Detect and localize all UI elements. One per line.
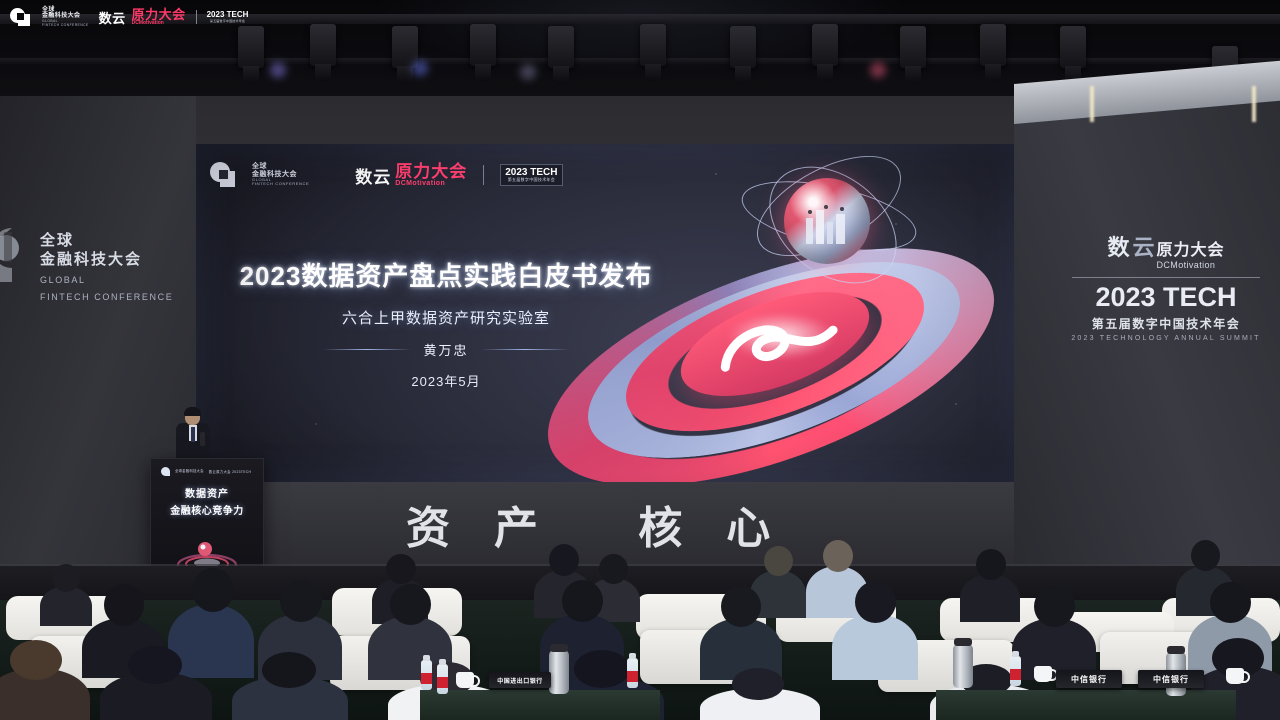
audience-member-front [100,672,212,720]
soffit-light-strip [1252,86,1256,122]
audience-head [262,652,316,688]
right-wall-divider [1072,277,1260,278]
audience-head [823,540,853,572]
audience-member-front [232,676,348,720]
audience-head [549,544,579,576]
wm-gfc-en2: FINTECH CONFERENCE [42,24,89,28]
fintech-logo-icon [0,226,34,284]
screen-vignette [196,144,1014,482]
main-led-screen: 全球 金融科技大会 GLOBAL FINTECH CONFERENCE 数云 原… [196,144,1014,482]
watermark-divider [196,10,197,24]
audience-head [732,668,784,700]
microphone-icon [200,432,205,446]
guest-table [936,690,1236,720]
stage-light [238,26,264,68]
lower-led-band: 资产 核心 [196,482,1014,568]
right-wall-branding: 数 云 原力大会 DCMotivation 2023 TECH 第五届数字中国技… [1066,230,1266,342]
speaker-person [176,408,210,464]
stage-light [1060,26,1086,68]
fintech-logo-icon [161,467,170,476]
conference-photo: 全球 金融科技大会 GLOBAL FINTECH CONFERENCE 数 云 … [0,0,1280,720]
left-wall-cn-line2: 金融科技大会 [40,251,184,270]
stage-light [548,26,574,68]
stage-light [470,24,496,66]
right-wall-cn2: 原力大会 [1157,243,1225,259]
audience-head [128,646,182,684]
podium-title-line1: 数据资产 [151,485,263,500]
audience-head [280,580,322,622]
right-wall-logo-row: 数 云 原力大会 DCMotivation [1066,230,1266,270]
thermos [549,650,569,694]
stage-light [640,24,666,66]
right-wall-cn3: 第五届数字中国技术年会 [1066,315,1266,332]
audience-head [855,581,896,623]
stage-light [812,24,838,66]
audience-head [386,554,416,584]
nameplate-label: 中信银行 [1071,674,1107,685]
wm-dc-cn2: 原力大会 [132,8,186,22]
audience-head [599,554,628,584]
audience-member [832,614,918,680]
left-wall-en-line2: FINTECH CONFERENCE [40,291,184,305]
podium-logo-cn: 全球金融科技大会 [175,469,204,473]
water-bottle [421,660,432,690]
tea-mug [456,672,474,688]
audience-head [562,580,603,622]
audience-head [52,564,80,592]
audience-head [1191,540,1220,571]
watermark-tech-badge: 2023 TECH 第五届数字中国技术年会 [207,11,249,23]
fintech-logo-icon [10,6,32,28]
lamp-glow [270,62,286,78]
audience-head [10,640,62,680]
wm-tech-bot: 第五届数字中国技术年会 [207,20,249,23]
audience-member [40,586,92,626]
left-wall-branding: 全球 金融科技大会 GLOBAL FINTECH CONFERENCE [14,232,184,305]
left-wall-en-line1: GLOBAL [40,274,184,288]
soffit-light-strip [1090,86,1094,122]
nameplate: 中国进出口银行 [489,672,551,688]
stage-light [310,24,336,66]
stage-light [730,26,756,68]
audience-head [1034,586,1075,627]
lower-band-text: 资产 核心 [406,492,814,556]
watermark-dc-logo: 数云 原力大会 DCMotivation [99,8,186,27]
lamp-glow [520,64,536,80]
audience-member [960,574,1020,622]
right-wall-en2: DCMotivation [1157,261,1225,270]
podium-logo-cn2: 数云原力大会 2023TECH [209,469,252,474]
tea-mug [1034,666,1052,682]
wm-dc-en: DCMotivation [132,21,186,26]
audience-head [192,568,234,612]
audience-member-front [700,688,820,720]
right-wall-en3: 2023 TECHNOLOGY ANNUAL SUMMIT [1066,335,1266,342]
left-wall-cn-line1: 全球 [40,232,184,251]
audience-head [574,650,630,688]
podium-title-line2: 金融核心竞争力 [151,502,263,517]
right-wall-shu: 数 [1107,230,1130,262]
right-wall-tech: 2023 TECH [1066,284,1266,311]
tea-mug [1226,668,1244,684]
thermos [953,644,973,688]
watermark-fintech-text: 全球 金融科技大会 GLOBAL FINTECH CONFERENCE [42,7,89,28]
audience-head [390,584,431,625]
wm-dc-cn: 数云 [99,8,126,27]
audience-head [1210,582,1251,623]
audience-head [721,586,761,627]
lamp-glow [870,62,886,78]
nameplate-label: 中国进出口银行 [497,676,543,685]
stage-light [900,26,926,68]
audience-head [764,546,793,576]
broadcast-watermark: 全球 金融科技大会 GLOBAL FINTECH CONFERENCE 数云 原… [10,6,248,28]
nameplate-label: 中信银行 [1153,674,1189,685]
podium-title: 数据资产 金融核心竞争力 [151,485,263,517]
audience-head [104,584,144,626]
water-bottle [627,658,638,688]
guest-table [420,690,660,720]
right-wall-yun: 云 [1132,230,1154,262]
stage-light [980,24,1006,66]
nameplate: 中信银行 [1056,670,1122,688]
water-bottle [1010,656,1021,686]
water-bottle [437,664,448,694]
podium-logo-bar: 全球金融科技大会 数云原力大会 2023TECH [161,467,251,476]
right-wall-stack: 原力大会 DCMotivation [1157,243,1225,270]
lamp-glow [412,60,428,76]
nameplate: 中信银行 [1138,670,1204,688]
audience-head [976,549,1006,580]
